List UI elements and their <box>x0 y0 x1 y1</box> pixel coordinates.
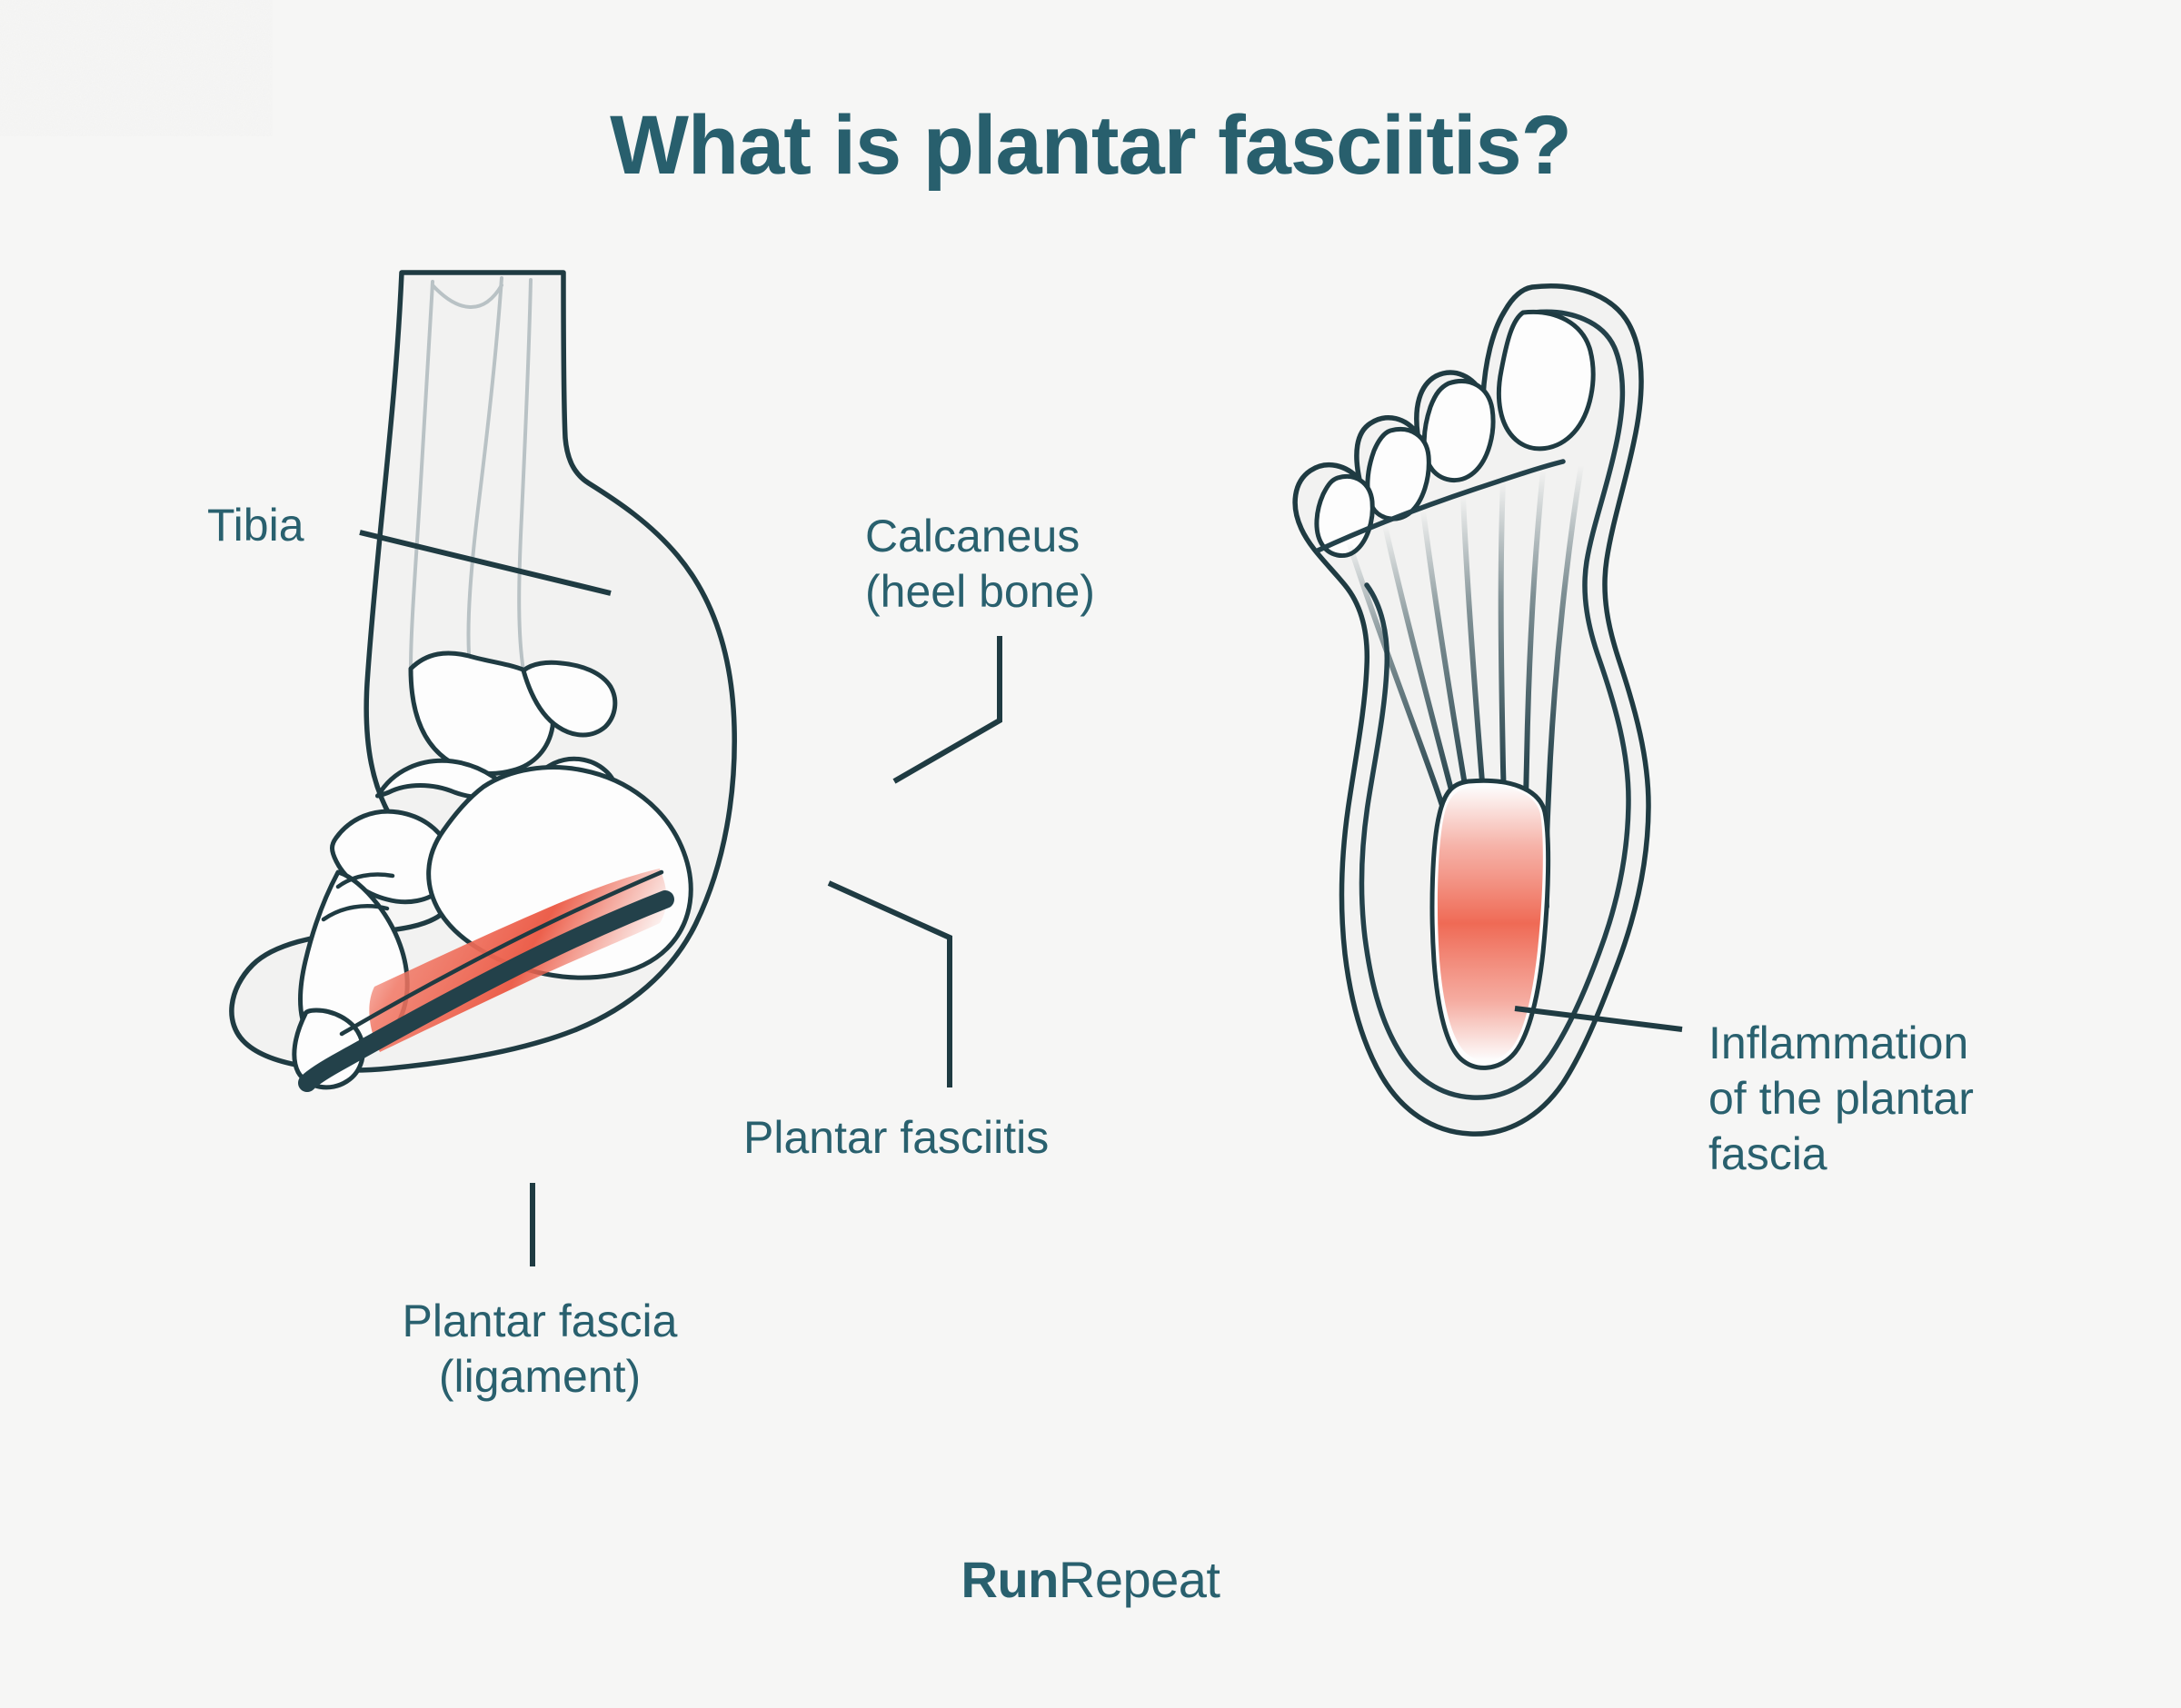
logo-run-text: Run <box>961 1551 1059 1608</box>
leader-tibia <box>360 532 611 593</box>
runrepeat-logo: RunRepeat <box>0 1550 2181 1609</box>
leader-calcaneus <box>894 636 1000 781</box>
label-calcaneus: Calcaneus (heel bone) <box>865 509 1095 620</box>
leader-lines <box>0 0 2181 1708</box>
label-plantar-fascia: Plantar fascia (ligament) <box>349 1294 731 1405</box>
label-inflammation: Inflammation of the plantar fascia <box>1708 1016 1974 1182</box>
logo-repeat-text: Repeat <box>1059 1551 1220 1608</box>
infographic-canvas: What is plantar fasciitis? <box>0 0 2181 1708</box>
leader-plantar-fasciitis <box>829 883 950 1087</box>
leader-inflammation <box>1515 1008 1682 1029</box>
label-plantar-fasciitis: Plantar fasciitis <box>743 1110 1049 1166</box>
label-tibia: Tibia <box>207 498 304 553</box>
